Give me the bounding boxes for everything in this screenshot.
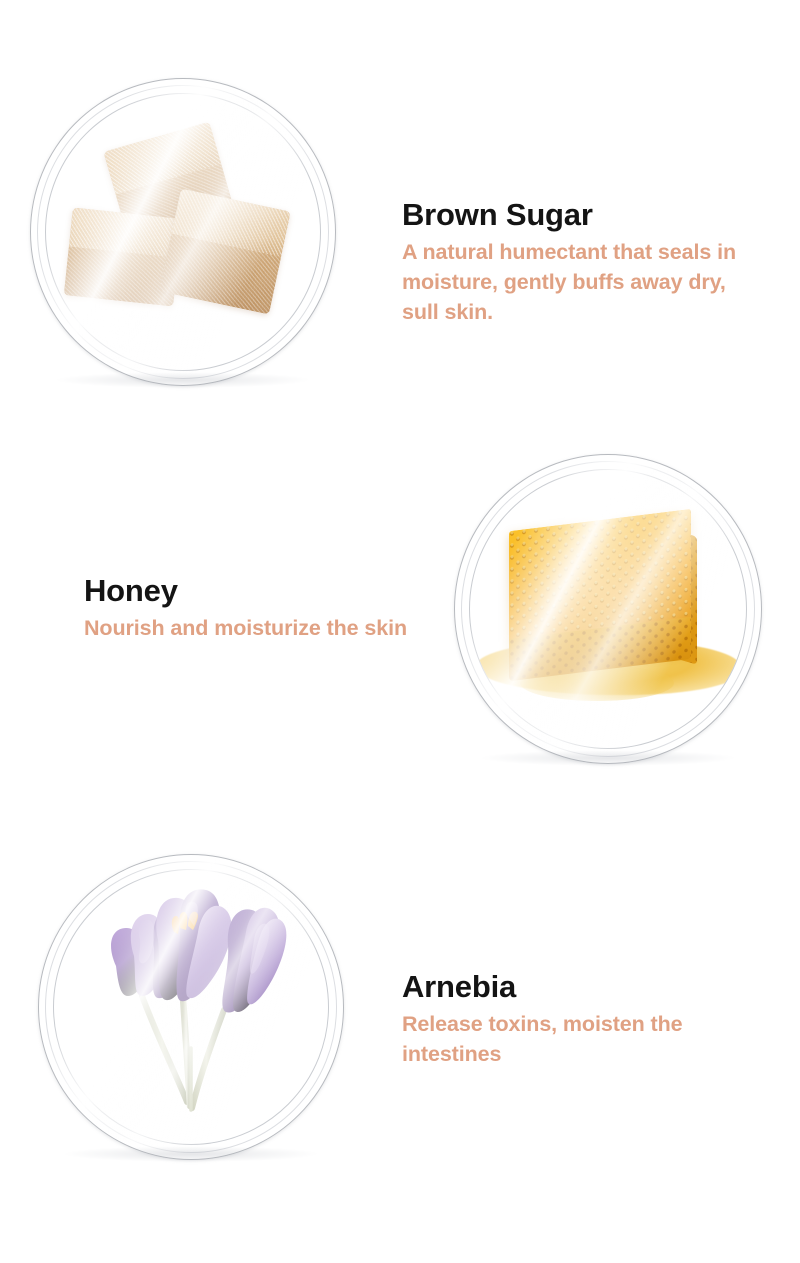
brown-sugar-bowl-image — [30, 78, 336, 386]
honey-bowl-image — [454, 454, 762, 764]
arnebia-text-block: Arnebia Release toxins, moisten the inte… — [402, 970, 752, 1069]
brown-sugar-title: Brown Sugar — [402, 198, 762, 233]
arnebia-bowl-image — [38, 854, 344, 1160]
honeycomb-group — [470, 470, 746, 748]
arnebia-title: Arnebia — [402, 970, 752, 1005]
bowl-contents-brown-sugar — [46, 94, 320, 370]
crocus-flower-right — [222, 908, 286, 1013]
sugar-cubes-group — [46, 94, 320, 370]
ingredients-page: { "page": { "background_color": "#ffffff… — [0, 0, 800, 1263]
brown-sugar-text-block: Brown Sugar A natural humectant that sea… — [402, 198, 762, 327]
crocus-flowers-group — [54, 870, 328, 1144]
arnebia-description: Release toxins, moisten the intestines — [402, 1009, 752, 1069]
crocus-flower-illustration — [54, 870, 328, 1144]
crocus-flower-center — [156, 889, 231, 1001]
honey-text-block: Honey Nourish and moisturize the skin — [84, 574, 434, 643]
brown-sugar-description: A natural humectant that seals in moistu… — [402, 237, 762, 327]
bowl-contents-honeycomb — [470, 470, 746, 748]
crocus-stems — [142, 996, 224, 1110]
honey-description: Nourish and moisturize the skin — [84, 613, 434, 643]
bowl-contents-crocus — [54, 870, 328, 1144]
sugar-cube-right — [160, 188, 292, 314]
honey-title: Honey — [84, 574, 434, 609]
